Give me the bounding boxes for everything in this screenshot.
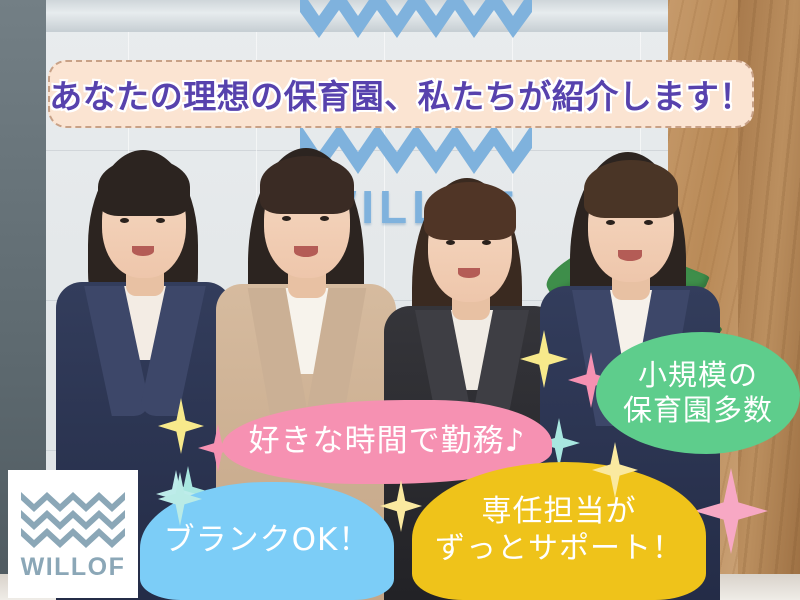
graphic-overlay: 好きな時間で勤務♪ 小規模の 保育園多数 専任担当が ずっとサポート！ ブランク… — [0, 0, 800, 600]
yellow-bubble-label: 専任担当が ずっとサポート！ — [435, 494, 683, 567]
headline-text: あなたの理想の保育園、私たちが紹介します！ — [49, 70, 753, 118]
yellow-bubble-line1: 専任担当が — [435, 494, 683, 531]
green-bubble[interactable]: 小規模の 保育園多数 — [596, 332, 800, 454]
pink-bubble-label: 好きな時間で勤務♪ — [249, 423, 526, 461]
sparkle-yellow-mid-icon — [520, 330, 568, 388]
green-bubble-line1: 小規模の — [623, 358, 773, 393]
blue-bubble-label: ブランクOK！ — [164, 522, 371, 560]
green-bubble-label: 小規模の 保育園多数 — [623, 358, 773, 429]
yellow-bubble-line2: ずっとサポート！ — [435, 531, 683, 568]
yellow-bubble[interactable]: 専任担当が ずっとサポート！ — [412, 462, 706, 600]
headline-banner: あなたの理想の保育園、私たちが紹介します！ — [48, 60, 754, 128]
poster-root: WILLOF — [0, 0, 800, 600]
willof-logo: WILLOF — [8, 470, 138, 598]
willof-wordmark: WILLOF — [21, 553, 126, 582]
green-bubble-line2: 保育園多数 — [623, 393, 773, 428]
willof-zigzag-icon — [21, 490, 125, 548]
sparkle-yellow-left-icon — [158, 398, 204, 454]
